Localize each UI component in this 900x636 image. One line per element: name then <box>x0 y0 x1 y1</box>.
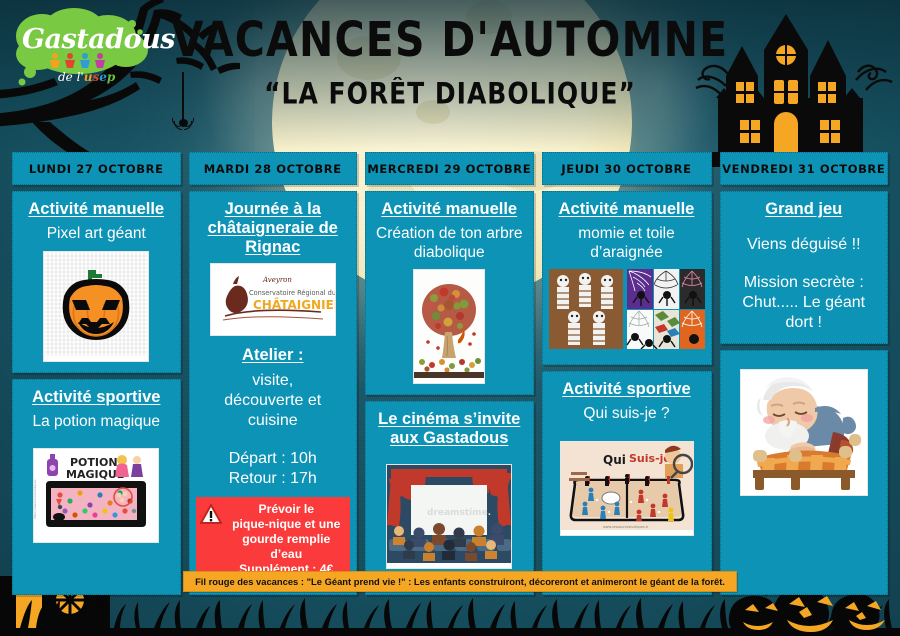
card-line: découverte et <box>224 391 321 411</box>
autumn-tree-craft-image <box>413 269 485 384</box>
card-title: Grand jeu <box>765 200 842 219</box>
day-header-thursday: JEUDI 30 OCTOBRE <box>542 152 712 185</box>
card-subtitle: La potion magique <box>32 413 160 432</box>
logo-tagline-prefix: de l' <box>58 70 84 84</box>
activity-card-monday-morning[interactable]: Activité manuelle Pixel art géant <box>12 191 181 373</box>
day-header-tuesday: MARDI 28 OCTOBRE <box>189 152 358 185</box>
card-title: Activité sportive <box>562 380 690 399</box>
hanging-spider-icon <box>173 116 193 130</box>
card-line-mission-2: Chut..... Le géant <box>742 293 865 313</box>
activity-card-thursday-afternoon[interactable]: Activité sportive Qui suis-je ? Qui Suis… <box>542 371 712 594</box>
card-line-mission: Mission secrète : <box>744 273 864 293</box>
card-title: Activité manuelle <box>28 200 164 219</box>
logo-caption-top: Aveyron <box>262 276 292 284</box>
poster-root: Gastadous de l'usep VACANCES D'AUTOMNE “… <box>0 0 900 636</box>
day-header-friday: VENDREDI 31 OCTOBRE <box>720 152 889 185</box>
card-title: Le cinéma s’invite aux Gastadous <box>372 410 527 448</box>
card-line: cuisine <box>248 411 298 431</box>
day-column-thursday: JEUDI 30 OCTOBRE Activité manuelle momie… <box>542 152 712 595</box>
footer-note-banner: Fil rouge des vacances : "Le Géant prend… <box>183 571 737 592</box>
usep-kids-icon <box>48 52 114 70</box>
cinema-screen-illustration-image: dreamstime. <box>386 464 512 569</box>
pixel-art-pumpkin-grid-image <box>43 251 149 362</box>
card-title: Activité manuelle <box>559 200 695 219</box>
schedule-return: Retour : 17h <box>229 469 317 489</box>
mummy-and-spiderweb-crafts-image <box>549 269 705 354</box>
card-subtitle: Création de ton arbre diabolique <box>372 225 527 262</box>
logo-tagline: de l'usep <box>58 70 115 84</box>
day-column-wednesday: MERCREDI 29 OCTOBRE Activité manuelle Cr… <box>365 152 534 595</box>
warning-line: pique-nique et une <box>232 517 340 531</box>
warning-line: Prévoir le <box>258 502 314 516</box>
card-subtitle: momie et toile d’araignée <box>549 225 705 262</box>
day-column-monday: LUNDI 27 OCTOBRE Activité manuelle Pixel… <box>12 152 181 595</box>
card-line-mission-3: dort ! <box>786 313 822 333</box>
potion-magique-game-mat-image: POTION MAGIQUE <box>33 448 159 543</box>
warning-line: gourde remplie d’eau <box>242 532 330 561</box>
activity-card-thursday-morning[interactable]: Activité manuelle momie et toile d’araig… <box>542 191 712 365</box>
gastadous-logo: Gastadous de l'usep <box>8 6 158 98</box>
activity-card-monday-afternoon[interactable]: Activité sportive La potion magique POTI… <box>12 379 181 595</box>
logo-caption-mid: Conservatoire Régional du <box>249 289 335 297</box>
svg-text:Qui: Qui <box>603 453 626 467</box>
activity-card-wednesday-morning[interactable]: Activité manuelle Création de ton arbre … <box>365 191 534 395</box>
warning-triangle-icon <box>200 504 222 528</box>
warning-text: Prévoir le pique-nique et une gourde rem… <box>227 502 347 578</box>
card-title-atelier: Atelier : <box>242 346 303 365</box>
activity-card-wednesday-afternoon[interactable]: Le cinéma s’invite aux Gastadous <box>365 401 534 594</box>
svg-text:www.ressourcesludiques.fr: www.ressourcesludiques.fr <box>603 525 649 529</box>
weekly-schedule-grid: LUNDI 27 OCTOBRE Activité manuelle Pixel… <box>12 152 888 595</box>
card-line: visite, <box>252 371 293 391</box>
logo-brand-text: Gastadous <box>22 24 175 55</box>
card-title: Activité manuelle <box>381 200 517 219</box>
svg-text:https://ressourcesludiques: https://ressourcesludiques <box>34 479 37 519</box>
qui-suis-je-game-diagram-image: Qui Suis-je ? <box>560 441 694 536</box>
card-title: Journée à la châtaigneraie de Rignac <box>196 200 351 257</box>
logo-caption-main: CHÂTAIGNIER <box>253 297 335 312</box>
card-line-costume: Viens déguisé !! <box>747 235 861 255</box>
card-subtitle: Qui suis-je ? <box>583 405 669 424</box>
card-title: Activité sportive <box>32 388 160 407</box>
activity-card-friday-grand-jeu[interactable]: Grand jeu Viens déguisé !! Mission secrè… <box>720 191 889 344</box>
svg-text:dreamstime.: dreamstime. <box>427 508 491 518</box>
day-header-wednesday: MERCREDI 29 OCTOBRE <box>365 152 534 185</box>
activity-card-friday-image[interactable] <box>720 350 889 595</box>
day-header-monday: LUNDI 27 OCTOBRE <box>12 152 181 185</box>
schedule-departure: Départ : 10h <box>229 449 317 469</box>
sleeping-giant-illustration-image <box>740 369 868 496</box>
conservatoire-chataignier-logo-image: Aveyron Conservatoire Régional du CHÂTAI… <box>210 263 336 336</box>
day-column-tuesday: MARDI 28 OCTOBRE Journée à la châtaigner… <box>189 152 358 595</box>
card-subtitle: Pixel art géant <box>47 225 146 244</box>
activity-card-tuesday[interactable]: Journée à la châtaigneraie de Rignac Ave… <box>189 191 358 595</box>
day-column-friday: VENDREDI 31 OCTOBRE Grand jeu Viens dégu… <box>720 152 889 595</box>
